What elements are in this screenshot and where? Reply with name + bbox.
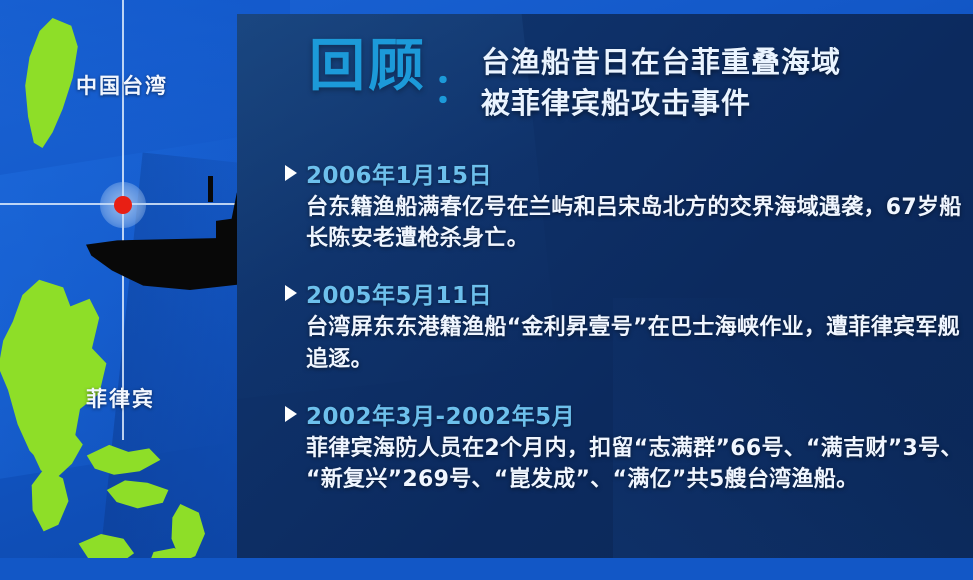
triangle-right-icon xyxy=(285,165,297,181)
list-item-date: 2005年5月11日 xyxy=(306,276,492,310)
header-title-line-1: 台渔船昔日在台菲重叠海域 xyxy=(481,42,841,83)
list-item-header: 2006年1月15日 xyxy=(285,156,973,190)
triangle-right-icon xyxy=(285,406,297,422)
header-kicker: 回顾 xyxy=(309,38,427,97)
timeline-list: 2006年1月15日 台东籍渔船满春亿号在兰屿和吕宋岛北方的交界海域遇袭，67岁… xyxy=(285,156,973,517)
incident-location-marker xyxy=(114,196,132,214)
triangle-right-icon xyxy=(285,285,297,301)
list-item-body: 台东籍渔船满春亿号在兰屿和吕宋岛北方的交界海域遇袭，67岁船长陈安老遭枪杀身亡。 xyxy=(306,192,973,254)
landmass-panay xyxy=(28,468,74,534)
list-item-header: 2005年5月11日 xyxy=(285,276,973,310)
list-item-body: 菲律宾海防人员在2个月内，扣留“志满群”66号、“满吉财”3号、“新复兴”269… xyxy=(306,433,973,495)
map-label-philippines: 菲律宾 xyxy=(86,383,155,413)
list-item-body: 台湾屏东东港籍渔船“金利昇壹号”在巴士海峡作业，遭菲律宾军舰追逐。 xyxy=(306,312,973,374)
list-item-header: 2002年3月-2002年5月 xyxy=(285,397,973,431)
panel-header: 回顾 ： 台渔船昔日在台菲重叠海域 被菲律宾船攻击事件 xyxy=(237,38,973,124)
header-title: 台渔船昔日在台菲重叠海域 被菲律宾船攻击事件 xyxy=(481,42,841,124)
list-item-date: 2006年1月15日 xyxy=(306,156,492,190)
infographic-slide: 中国台湾 菲律宾 回顾 ： 台渔船昔日在台菲重叠海域 被菲律宾船攻击事件 200… xyxy=(0,0,973,580)
warship-mast-icon xyxy=(208,176,213,202)
content-panel: 回顾 ： 台渔船昔日在台菲重叠海域 被菲律宾船攻击事件 2006年1月15日 台… xyxy=(237,14,973,558)
list-item: 2002年3月-2002年5月 菲律宾海防人员在2个月内，扣留“志满群”66号、… xyxy=(285,397,973,495)
bottom-strip xyxy=(0,558,973,580)
header-title-line-2: 被菲律宾船攻击事件 xyxy=(481,83,841,124)
list-item-date: 2002年3月-2002年5月 xyxy=(306,397,575,431)
list-item: 2006年1月15日 台东籍渔船满春亿号在兰屿和吕宋岛北方的交界海域遇袭，67岁… xyxy=(285,156,973,254)
header-colon: ： xyxy=(433,56,473,114)
map-label-taiwan: 中国台湾 xyxy=(76,70,168,100)
list-item: 2005年5月11日 台湾屏东东港籍渔船“金利昇壹号”在巴士海峡作业，遭菲律宾军… xyxy=(285,276,973,374)
